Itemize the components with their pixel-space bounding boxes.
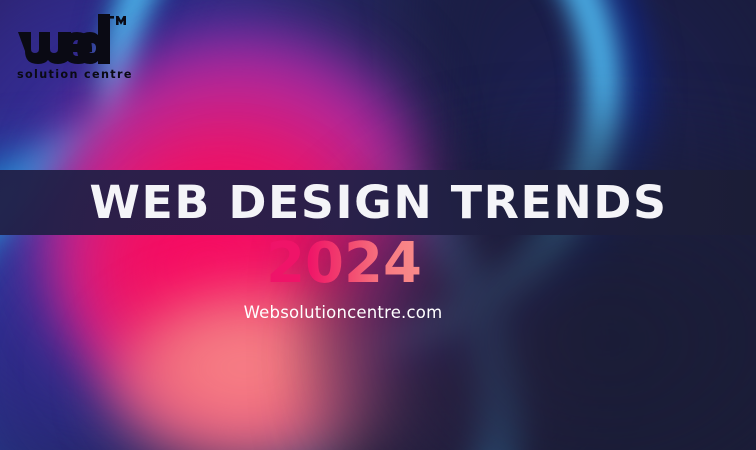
headline-container: WEB DESIGN TRENDS: [0, 170, 756, 235]
logo-tagline: solution centre: [17, 68, 133, 81]
year-label: 2024: [266, 236, 422, 292]
website-url[interactable]: Websolutioncentre.com: [244, 303, 443, 322]
brand-logo[interactable]: solution centre: [14, 12, 144, 82]
website-container: Websolutioncentre.com: [0, 303, 756, 323]
web-design-trends-banner: solution centre WEB DESIGN TRENDS 2024 W…: [0, 0, 756, 450]
page-title: WEB DESIGN TRENDS: [89, 180, 667, 225]
year-container: 2024: [0, 236, 756, 292]
web-solution-centre-logo-mark: solution centre: [14, 12, 144, 82]
